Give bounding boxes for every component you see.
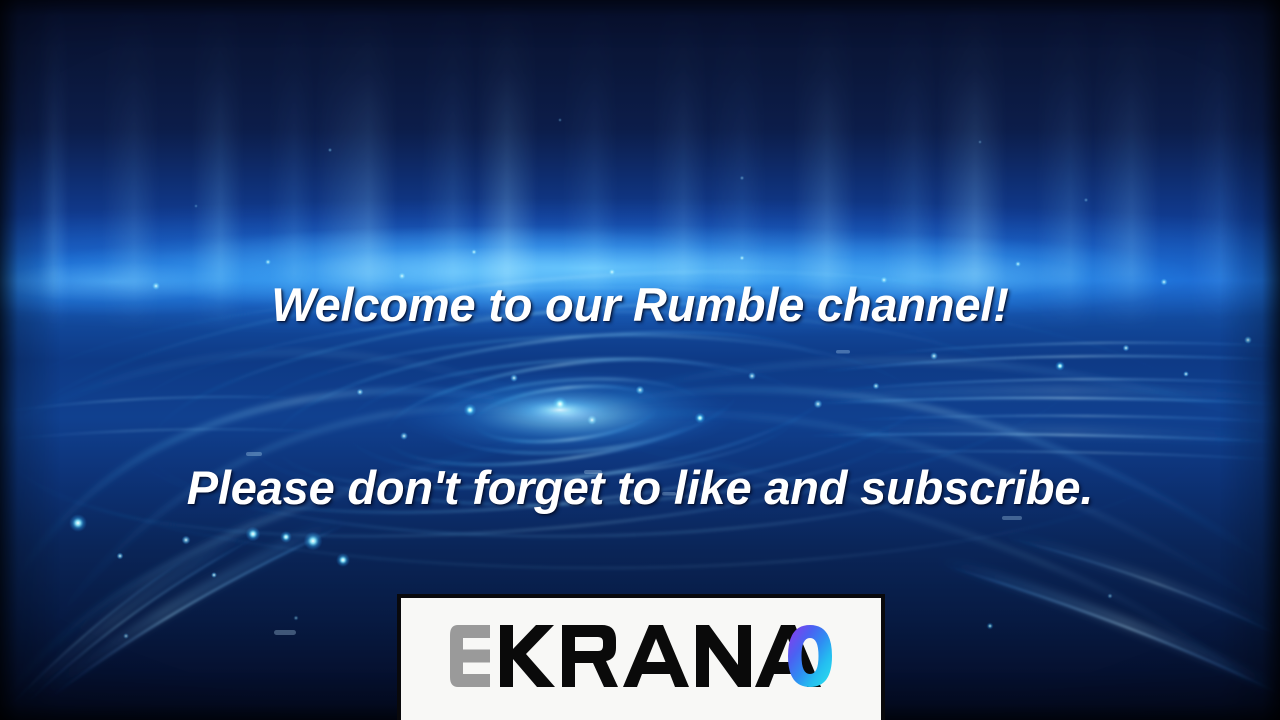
logo-card bbox=[397, 594, 885, 720]
logo-wordmark bbox=[500, 625, 821, 687]
video-frame: Welcome to our Rumble channel! Please do… bbox=[0, 0, 1280, 720]
logo-zero-glyph bbox=[788, 625, 832, 687]
welcome-caption: Welcome to our Rumble channel! bbox=[0, 277, 1280, 333]
logo-letter-e bbox=[450, 625, 490, 687]
subscribe-caption: Please don't forget to like and subscrib… bbox=[0, 460, 1280, 516]
ekrana-logo bbox=[450, 625, 832, 687]
